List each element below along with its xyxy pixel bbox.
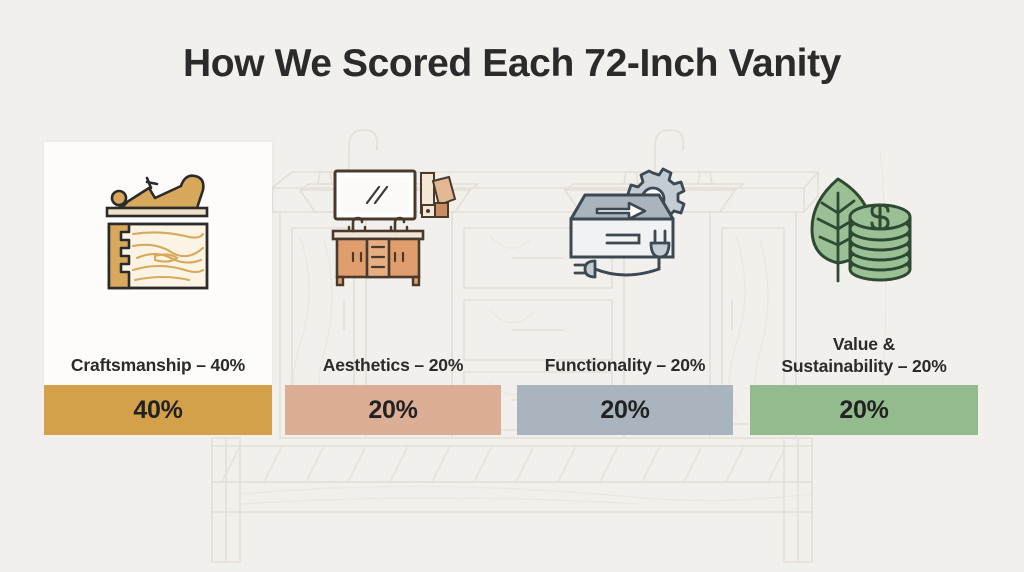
score-bar-craftsmanship[interactable]: 40%: [44, 385, 272, 435]
icon-area: [44, 150, 272, 310]
criteria-column-functionality[interactable]: Functionality – 20%: [517, 150, 733, 376]
score-value-craftsmanship: 40%: [133, 396, 182, 425]
score-bar-value-sustainability[interactable]: 20%: [750, 385, 978, 435]
hand-plane-wood-joint-icon: [93, 168, 223, 293]
vanity-mirror-color-swatch-icon: [323, 165, 463, 295]
criteria-label-line-1: Value &: [833, 334, 895, 354]
drawer-gear-plug-icon: [555, 165, 695, 295]
score-bar-aesthetics[interactable]: 20%: [285, 385, 501, 435]
page-title: How We Scored Each 72-Inch Vanity: [0, 42, 1024, 86]
scoring-infographic: How We Scored Each 72-Inch Vanity: [0, 0, 1024, 572]
icon-area: [285, 150, 501, 310]
score-bar-functionality[interactable]: 20%: [517, 385, 733, 435]
criteria-label-value-sustainability: Value & Sustainability – 20%: [750, 333, 978, 378]
score-value-aesthetics: 20%: [368, 396, 417, 425]
criteria-column-aesthetics[interactable]: Aesthetics – 20%: [285, 150, 501, 376]
score-value-value-sustainability: 20%: [839, 396, 888, 425]
criteria-label-functionality: Functionality – 20%: [517, 354, 733, 376]
criteria-label-craftsmanship: Craftsmanship – 40%: [44, 354, 272, 376]
criteria-label-aesthetics: Aesthetics – 20%: [285, 354, 501, 376]
score-value-functionality: 20%: [600, 396, 649, 425]
icon-area: [517, 150, 733, 310]
criteria-column-craftsmanship[interactable]: Craftsmanship – 40%: [44, 150, 272, 376]
criteria-column-value-sustainability[interactable]: Value & Sustainability – 20%: [750, 150, 978, 378]
icon-area: [750, 150, 978, 310]
criteria-label-line-2: Sustainability – 20%: [781, 356, 946, 376]
leaf-coins-icon: [804, 171, 924, 289]
